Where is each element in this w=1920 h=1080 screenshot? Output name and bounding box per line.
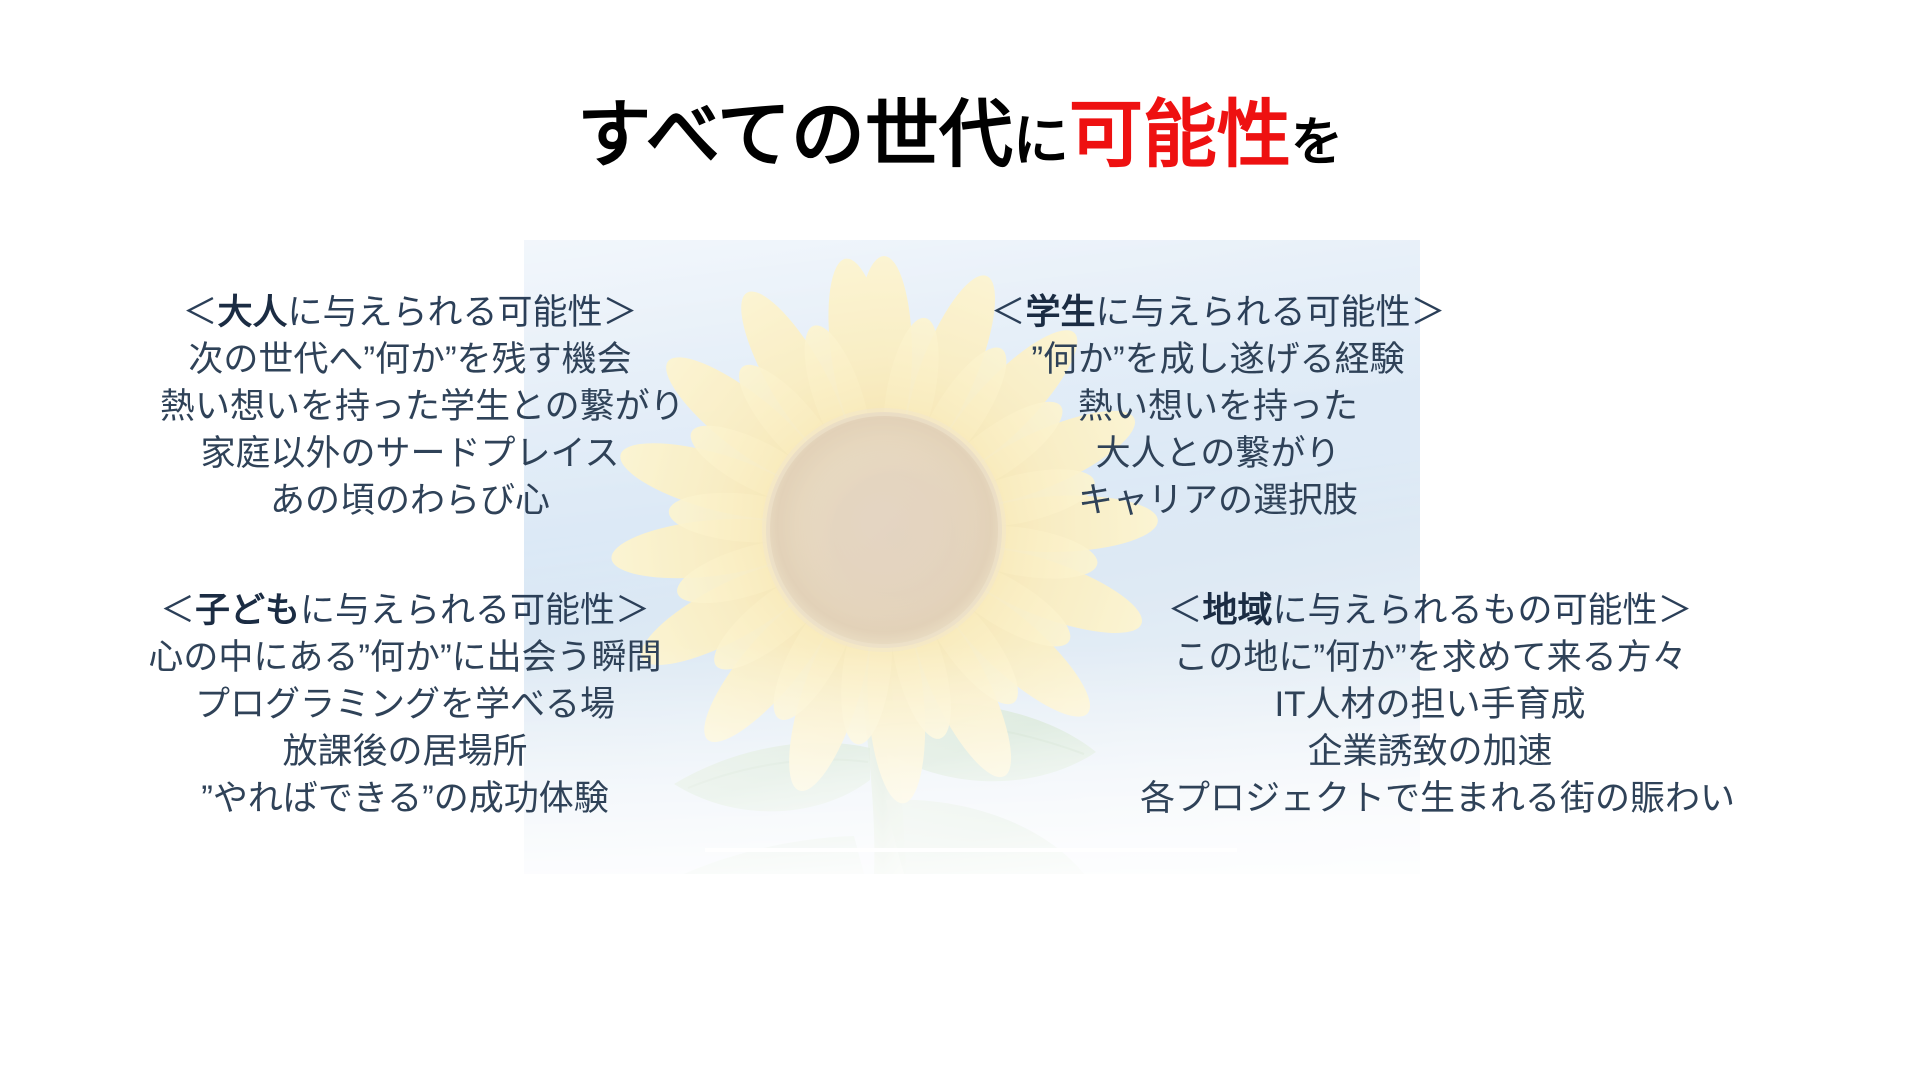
block-children-keyword: 子ども <box>195 591 300 630</box>
bracket-close: ＞ <box>615 591 650 630</box>
block-adults: ＜大人に与えられる可能性＞ 次の世代へ”何か”を残す機会 熱い想いを持った学生と… <box>160 290 660 524</box>
block-children-line-3: 放課後の居場所 <box>145 729 665 776</box>
title-part-possibility: 可能性 <box>1069 93 1291 176</box>
title-part-wo: を <box>1291 114 1343 172</box>
block-children-header-rest: に与えられる可能性 <box>300 591 615 630</box>
block-adults-keyword: 大人 <box>217 293 287 332</box>
block-adults-line-1: 次の世代へ”何か”を残す機会 <box>160 337 660 384</box>
bracket-close: ＞ <box>1658 591 1693 630</box>
block-children-header: ＜子どもに与えられる可能性＞ <box>145 588 665 635</box>
block-adults-line-4: あの頃のわらび心 <box>160 478 660 525</box>
block-children: ＜子どもに与えられる可能性＞ 心の中にある”何か”に出会う瞬間 プログラミングを… <box>145 588 665 822</box>
bracket-close: ＞ <box>603 293 638 332</box>
block-students-line-2: 熱い想いを持った <box>968 384 1468 431</box>
block-students: ＜学生に与えられる可能性＞ ”何か”を成し遂げる経験 熱い想いを持った 大人との… <box>968 290 1468 524</box>
block-students-line-4: キャリアの選択肢 <box>968 478 1468 525</box>
block-region-line-3: 企業誘致の加速 <box>1140 729 1720 776</box>
bracket-close: ＞ <box>1411 293 1446 332</box>
block-region-keyword: 地域 <box>1202 591 1272 630</box>
block-students-keyword: 学生 <box>1025 293 1095 332</box>
block-adults-header: ＜大人に与えられる可能性＞ <box>160 290 660 337</box>
block-region-header-rest: に与えられるもの可能性 <box>1273 591 1658 630</box>
block-children-line-4: ”やればできる”の成功体験 <box>145 776 665 823</box>
title-part-ni: に <box>1013 109 1069 172</box>
block-region-line-1: この地に”何か”を求めて来る方々 <box>1140 635 1720 682</box>
bracket-open: ＜ <box>160 591 195 630</box>
block-children-line-1: 心の中にある”何か”に出会う瞬間 <box>145 635 665 682</box>
block-region-line-4: 各プロジェクトで生まれる街の賑わい <box>1140 776 1720 823</box>
bracket-open: ＜ <box>1167 591 1202 630</box>
block-students-header-rest: に与えられる可能性 <box>1096 293 1411 332</box>
block-region: ＜地域に与えられるもの可能性＞ この地に”何か”を求めて来る方々 IT人材の担い… <box>1140 588 1720 822</box>
divider-line <box>705 848 1237 852</box>
block-adults-line-2: 熱い想いを持った学生との繋がり <box>160 384 660 431</box>
block-region-line-2: IT人材の担い手育成 <box>1140 682 1720 729</box>
page-title: すべての世代に可能性を <box>0 96 1920 174</box>
slide-canvas: すべての世代に可能性を ＜大人に与えられる可能性＞ 次の世代へ”何か”を残す機会… <box>0 0 1920 1080</box>
block-region-header: ＜地域に与えられるもの可能性＞ <box>1140 588 1720 635</box>
block-adults-header-rest: に与えられる可能性 <box>288 293 603 332</box>
block-students-line-1: ”何か”を成し遂げる経験 <box>968 337 1468 384</box>
block-adults-line-3: 家庭以外のサードプレイス <box>160 431 660 478</box>
bracket-open: ＜ <box>990 293 1025 332</box>
block-children-line-2: プログラミングを学べる場 <box>145 682 665 729</box>
bracket-open: ＜ <box>182 293 217 332</box>
block-students-line-3: 大人との繋がり <box>968 431 1468 478</box>
block-students-header: ＜学生に与えられる可能性＞ <box>968 290 1468 337</box>
title-part-generations: すべての世代 <box>577 93 1013 176</box>
